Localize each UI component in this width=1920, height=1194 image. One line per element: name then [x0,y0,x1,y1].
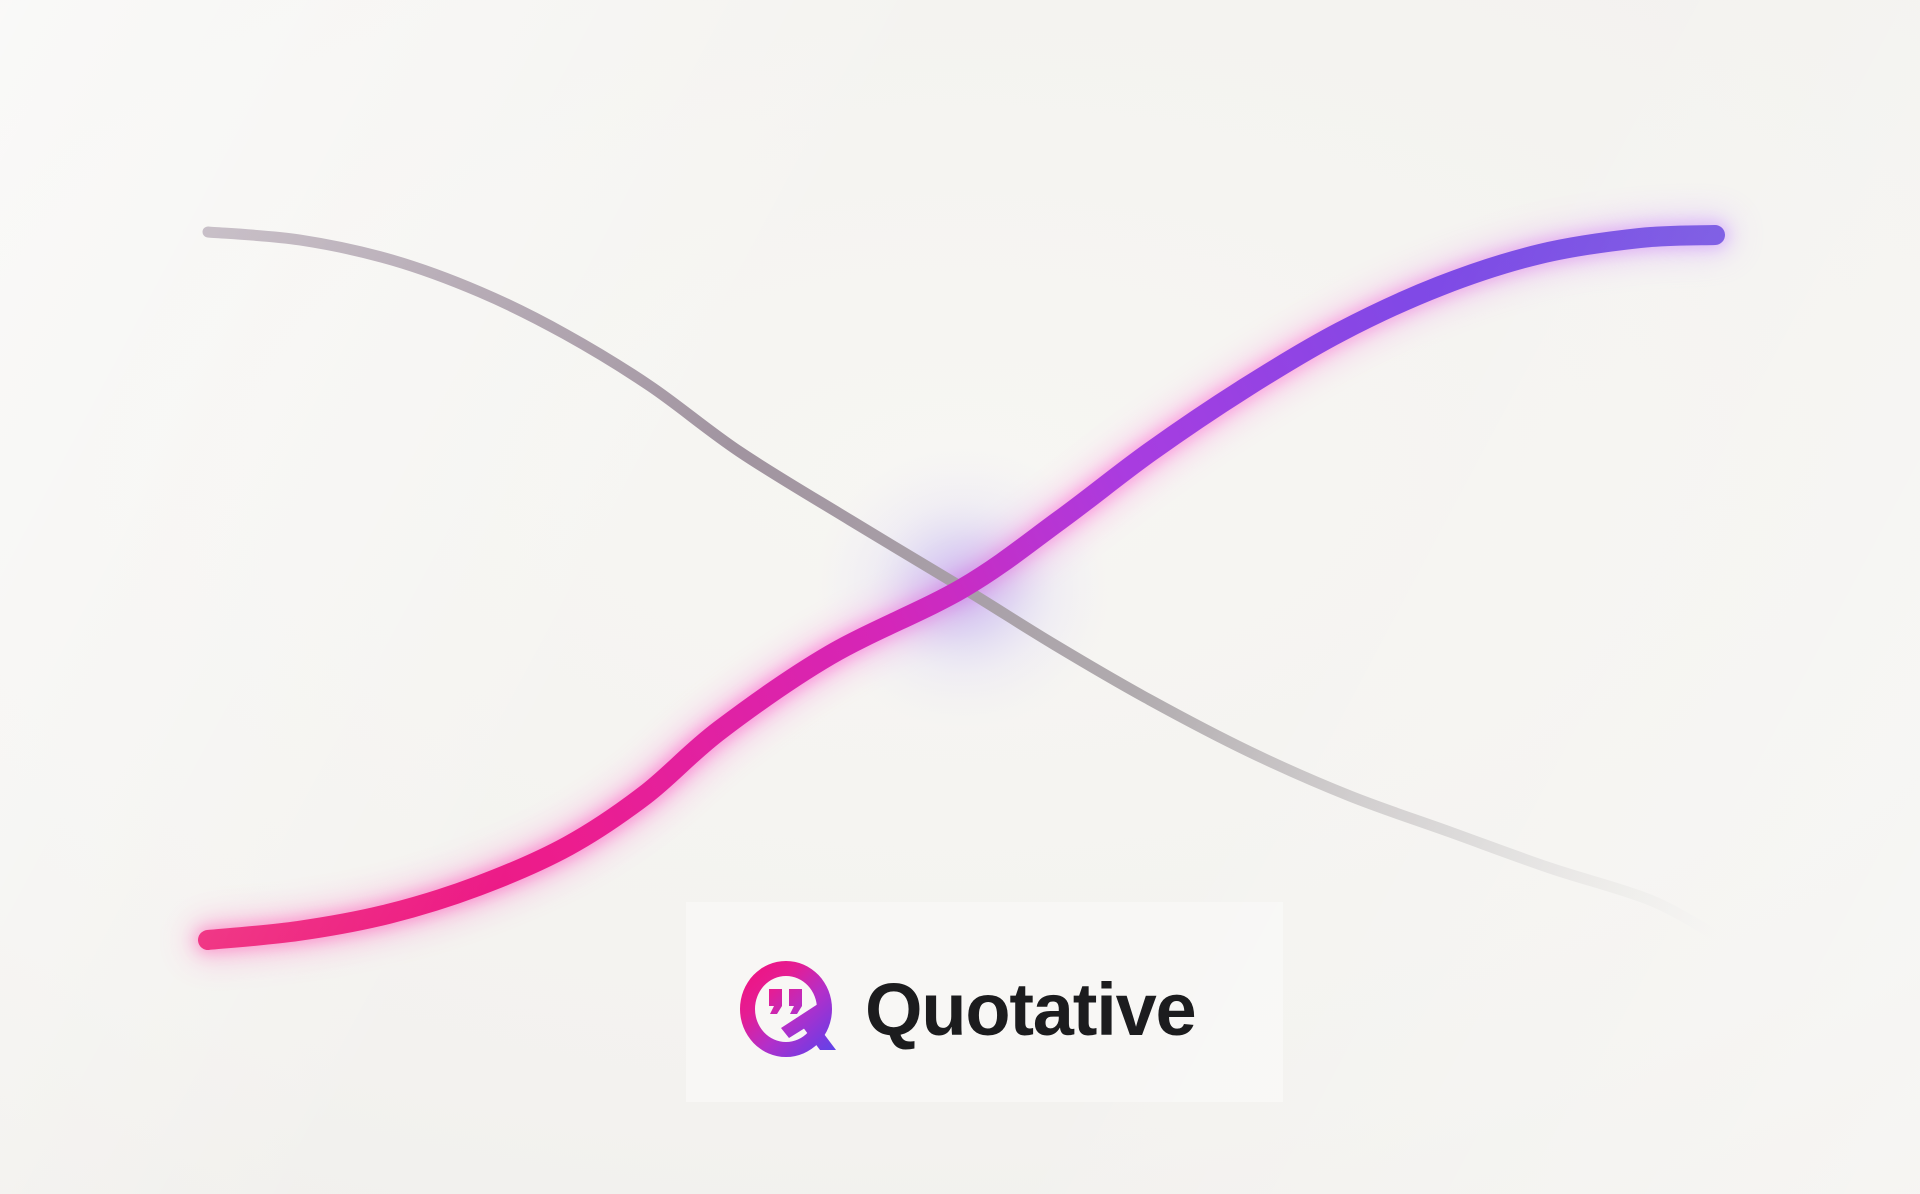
quotative-q-logo-icon [737,958,841,1062]
brand-wordmark: Quotative [865,973,1195,1047]
logo-quote-right [789,989,802,1014]
brand-lockup[interactable]: Quotative [737,958,1195,1062]
hero-canvas: Quotative [0,0,1920,1194]
logo-quote-left [769,989,782,1014]
rising-curve [208,235,1715,940]
